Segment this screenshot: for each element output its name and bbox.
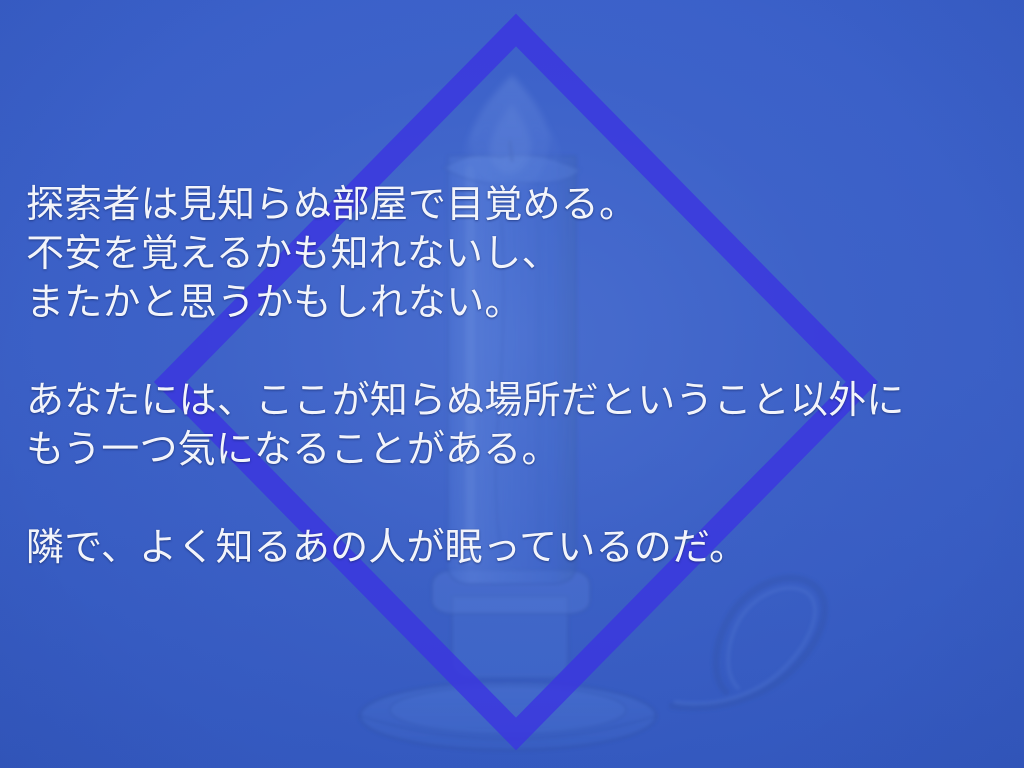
visual-novel-screen[interactable]: 探索者は見知らぬ部屋で目覚める。 不安を覚えるかも知れないし、 またかと思うかも… bbox=[0, 0, 1024, 768]
background-fill bbox=[0, 0, 1024, 768]
